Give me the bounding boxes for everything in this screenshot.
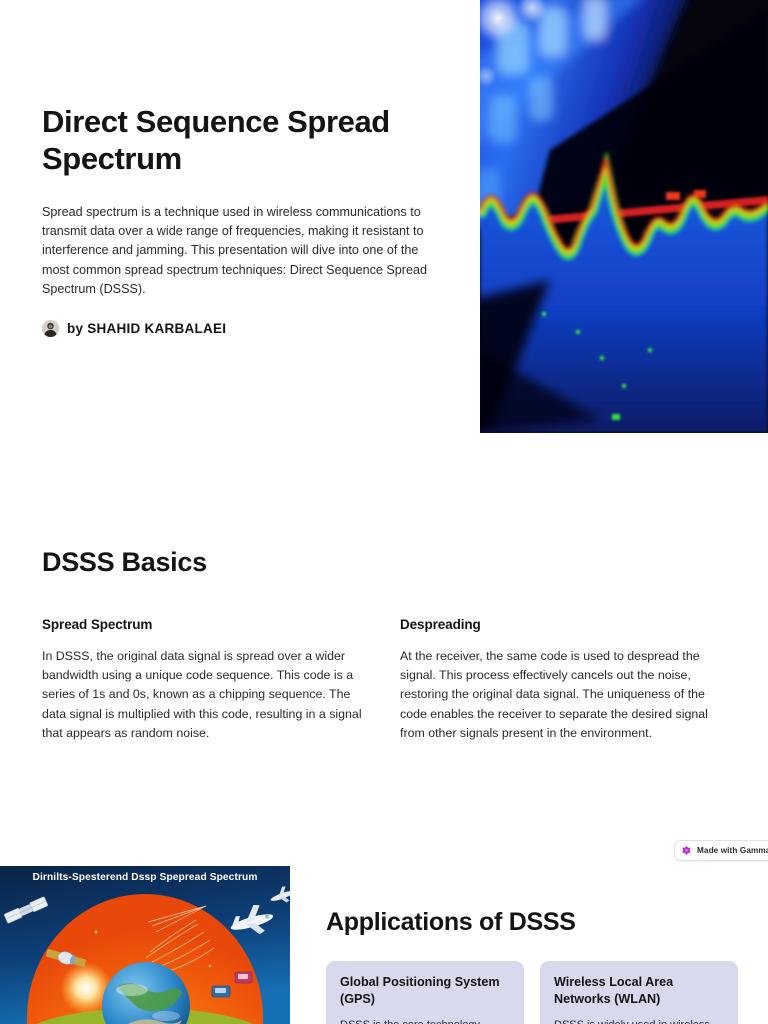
basics-columns: Spread Spectrum In DSSS, the original da… (42, 617, 726, 743)
gamma-logo-icon (681, 845, 692, 856)
byline: by SHAHID KARBALAEI (42, 320, 442, 337)
card-title: Wireless Local Area Networks (WLAN) (554, 974, 724, 1007)
dsss-illustration-image: Dirnilts-Spesterend Dssp Spepread Spectr… (0, 866, 290, 1024)
gamma-badge-label: Made with Gamma (697, 846, 768, 855)
column-body: At the receiver, the same code is used t… (400, 647, 720, 743)
card-body: DSSS is widely used in wireless (554, 1017, 724, 1024)
applications-section: Applications of DSSS Global Positioning … (326, 908, 738, 1024)
card-body: DSSS is the core technology (340, 1017, 510, 1024)
svg-text:Dirnilts-Spesterend Dssp Spepr: Dirnilts-Spesterend Dssp Spepread Spectr… (33, 872, 258, 883)
section-title-basics: DSSS Basics (42, 547, 726, 578)
column-spread-spectrum: Spread Spectrum In DSSS, the original da… (42, 617, 362, 743)
page-title: Direct Sequence Spread Spectrum (42, 104, 442, 177)
card-title: Global Positioning System (GPS) (340, 974, 510, 1007)
made-with-gamma-badge[interactable]: Made with Gamma (674, 840, 768, 861)
section-title-applications: Applications of DSSS (326, 908, 738, 937)
column-body: In DSSS, the original data signal is spr… (42, 647, 362, 743)
column-heading: Despreading (400, 617, 720, 632)
application-card-gps[interactable]: Global Positioning System (GPS) DSSS is … (326, 961, 524, 1024)
dsss-basics-section: DSSS Basics Spread Spectrum In DSSS, the… (42, 547, 726, 743)
hero-spectrum-image (480, 0, 768, 433)
application-cards: Global Positioning System (GPS) DSSS is … (326, 961, 738, 1024)
presentation-page: Direct Sequence Spread Spectrum Spread s… (0, 0, 768, 1024)
author-avatar-icon (42, 320, 59, 337)
column-heading: Spread Spectrum (42, 617, 362, 632)
column-despreading: Despreading At the receiver, the same co… (400, 617, 720, 743)
author-name: by SHAHID KARBALAEI (67, 321, 226, 336)
application-card-wlan[interactable]: Wireless Local Area Networks (WLAN) DSSS… (540, 961, 738, 1024)
hero-text-block: Direct Sequence Spread Spectrum Spread s… (42, 104, 442, 337)
hero-description: Spread spectrum is a technique used in w… (42, 203, 434, 299)
